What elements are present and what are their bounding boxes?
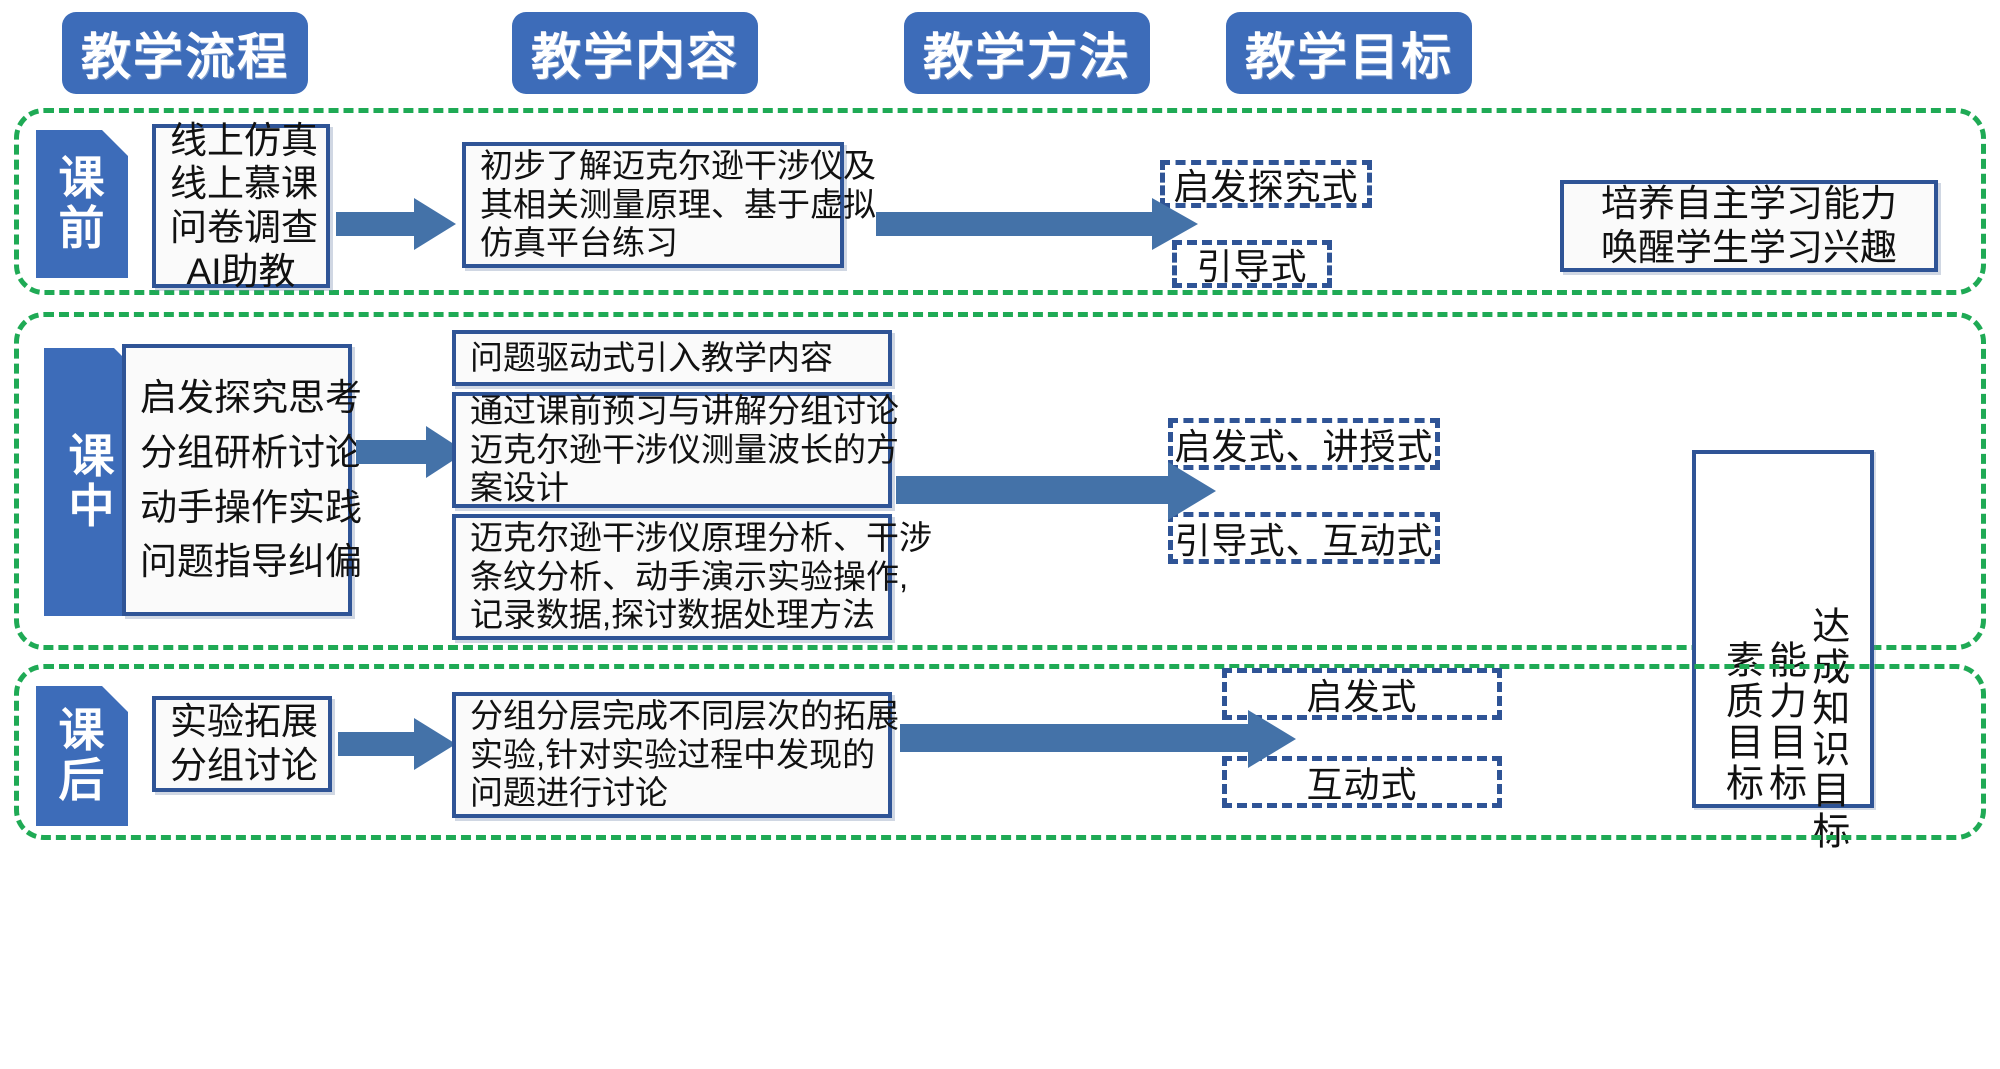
arrow-process-to-content-in-class [356, 424, 466, 480]
column-header-teaching-method: 教学方法 [904, 12, 1150, 94]
stage-banner-char: 前 [59, 204, 106, 254]
stage-banner-post-class: 课 后 [36, 686, 128, 826]
arrow-method-to-goal-pre-class [876, 196, 1198, 252]
content-card-in-class-1: 问题驱动式引入教学内容 [452, 330, 892, 386]
content-line: 记录数据,探讨数据处理方法 [470, 596, 874, 635]
arrow-process-to-content-pre-class [336, 196, 456, 252]
process-item: 分组研析讨论 [140, 431, 334, 475]
column-header-label: 教学方法 [923, 17, 1131, 89]
process-card-pre-class: 线上仿真 线上慕课 问卷调查 AI助教 [152, 124, 330, 288]
column-header-label: 教学流程 [81, 17, 289, 89]
process-item: 线上慕课 [170, 162, 312, 206]
content-line: 迈克尔逊干涉仪测量波长的方 [470, 431, 874, 470]
method-chip-label: 启发式 [1306, 668, 1417, 720]
diagram-canvas: 教学流程 教学内容 教学方法 教学目标 课 前 线上仿真 线上慕课 问卷调查 A… [0, 0, 2000, 1069]
stage-banner-char: 课 [59, 706, 106, 756]
process-card-in-class: 启发探究思考 分组研析讨论 动手操作实践 问题指导纠偏 [122, 344, 352, 616]
content-line: 仿真平台练习 [480, 224, 826, 263]
process-item: 启发探究思考 [140, 376, 334, 420]
content-card-in-class-2: 通过课前预习与讲解分组讨论 迈克尔逊干涉仪测量波长的方 案设计 [452, 392, 892, 508]
content-line: 分组分层完成不同层次的拓展 [470, 697, 874, 736]
column-header-label: 教学目标 [1245, 17, 1453, 89]
stage-banner-char: 后 [59, 756, 106, 806]
content-card-in-class-3: 迈克尔逊干涉仪原理分析、干涉 条纹分析、动手演示实验操作, 记录数据,探讨数据处… [452, 514, 892, 640]
process-item: 动手操作实践 [140, 486, 334, 530]
column-header-teaching-process: 教学流程 [62, 12, 308, 94]
arrow-process-to-content-post-class [338, 716, 456, 772]
process-card-post-class: 实验拓展 分组讨论 [152, 696, 332, 792]
stage-banner-char: 中 [69, 482, 116, 532]
content-line: 问题驱动式引入教学内容 [470, 339, 874, 378]
content-line: 迈克尔逊干涉仪原理分析、干涉 [470, 519, 874, 558]
arrow-method-to-goal-post-class [900, 708, 1296, 770]
arrow-method-to-goal-in-class [896, 460, 1216, 522]
goal-line: 唤醒学生学习兴趣 [1578, 226, 1920, 270]
content-line: 通过课前预习与讲解分组讨论 [470, 392, 874, 431]
content-line: 案设计 [470, 469, 874, 508]
process-item: 问题指导纠偏 [140, 540, 334, 584]
stage-banner-char: 课 [59, 154, 106, 204]
content-line: 条纹分析、动手演示实验操作, [470, 558, 874, 597]
content-line: 初步了解迈克尔逊干涉仪及 [480, 147, 826, 186]
goal-card-pre-class: 培养自主学习能力 唤醒学生学习兴趣 [1560, 180, 1938, 272]
process-item: AI助教 [170, 250, 312, 294]
process-item: 线上仿真 [170, 119, 312, 163]
column-header-label: 教学内容 [531, 17, 739, 89]
method-chip-label: 启发探究式 [1173, 158, 1358, 210]
process-item: 问卷调查 [170, 206, 312, 250]
content-line: 实验,针对实验过程中发现的 [470, 736, 874, 775]
stage-banner-char: 课 [69, 432, 116, 482]
content-line: 其相关测量原理、基于虚拟 [480, 186, 826, 225]
column-header-teaching-content: 教学内容 [512, 12, 758, 94]
process-item: 实验拓展 [170, 700, 314, 744]
content-card-pre-class: 初步了解迈克尔逊干涉仪及 其相关测量原理、基于虚拟 仿真平台练习 [462, 142, 844, 268]
content-line: 问题进行讨论 [470, 774, 874, 813]
goal-line: 培养自主学习能力 [1578, 182, 1920, 226]
column-header-teaching-goal: 教学目标 [1226, 12, 1472, 94]
method-chip-label: 引导式 [1196, 238, 1307, 290]
content-card-post-class: 分组分层完成不同层次的拓展 实验,针对实验过程中发现的 问题进行讨论 [452, 692, 892, 818]
process-item: 分组讨论 [170, 744, 314, 788]
method-chip-label: 互动式 [1306, 756, 1417, 808]
stage-banner-pre-class: 课 前 [36, 130, 128, 278]
